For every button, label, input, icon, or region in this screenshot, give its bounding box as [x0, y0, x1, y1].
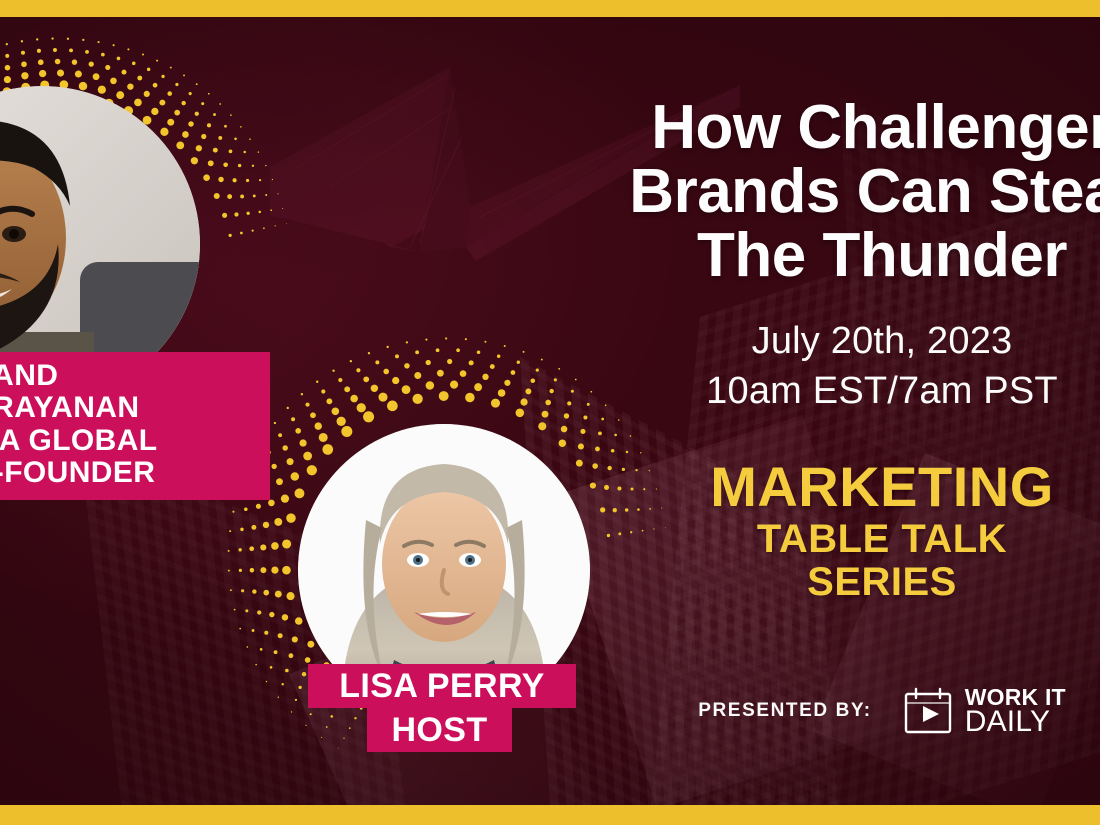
title-line-2: Brands Can Steal — [602, 160, 1100, 224]
presented-by-row: PRESENTED BY: WORK IT DAILY — [602, 686, 1100, 736]
nameplate-lisa-role: HOST — [367, 708, 512, 752]
top-accent-bar — [0, 0, 1100, 17]
lisa-name: LISA PERRY — [339, 668, 545, 705]
series-line-1: MARKETING — [602, 458, 1100, 515]
nameplate-anand: ANAND NARAYANAN MMA GLOBAL CO-FOUNDER — [0, 352, 270, 500]
anand-name-line2: NARAYANAN — [0, 392, 256, 424]
schedule-block: July 20th, 2023 10am EST/7am PST — [602, 316, 1100, 416]
work-it-daily-logo: WORK IT DAILY — [900, 686, 1066, 736]
webinar-promo-banner: ANAND NARAYANAN MMA GLOBAL CO-FOUNDER — [0, 0, 1100, 825]
title-line-1: How Challenger — [602, 96, 1100, 160]
anand-org: MMA GLOBAL — [0, 425, 256, 457]
bottom-accent-bar — [0, 805, 1100, 825]
event-time: 10am EST/7am PST — [602, 366, 1100, 416]
anand-role: CO-FOUNDER — [0, 457, 256, 489]
anand-name-line1: ANAND — [0, 360, 256, 392]
webinar-title: How Challenger Brands Can Steal The Thun… — [602, 96, 1100, 288]
copy-column: How Challenger Brands Can Steal The Thun… — [602, 96, 1100, 603]
lisa-role: HOST — [391, 712, 487, 749]
presented-by-label: PRESENTED BY: — [698, 700, 872, 722]
title-line-3: The Thunder — [602, 224, 1100, 288]
brand-line-2: DAILY — [965, 708, 1066, 736]
series-line-3: SERIES — [602, 562, 1100, 603]
nameplate-lisa-name: LISA PERRY — [308, 664, 576, 708]
series-branding: MARKETING TABLE TALK SERIES — [602, 458, 1100, 603]
calendar-play-icon — [900, 686, 956, 736]
work-it-daily-wordmark: WORK IT DAILY — [965, 687, 1066, 736]
series-line-2: TABLE TALK — [602, 519, 1100, 560]
event-date: July 20th, 2023 — [602, 316, 1100, 366]
